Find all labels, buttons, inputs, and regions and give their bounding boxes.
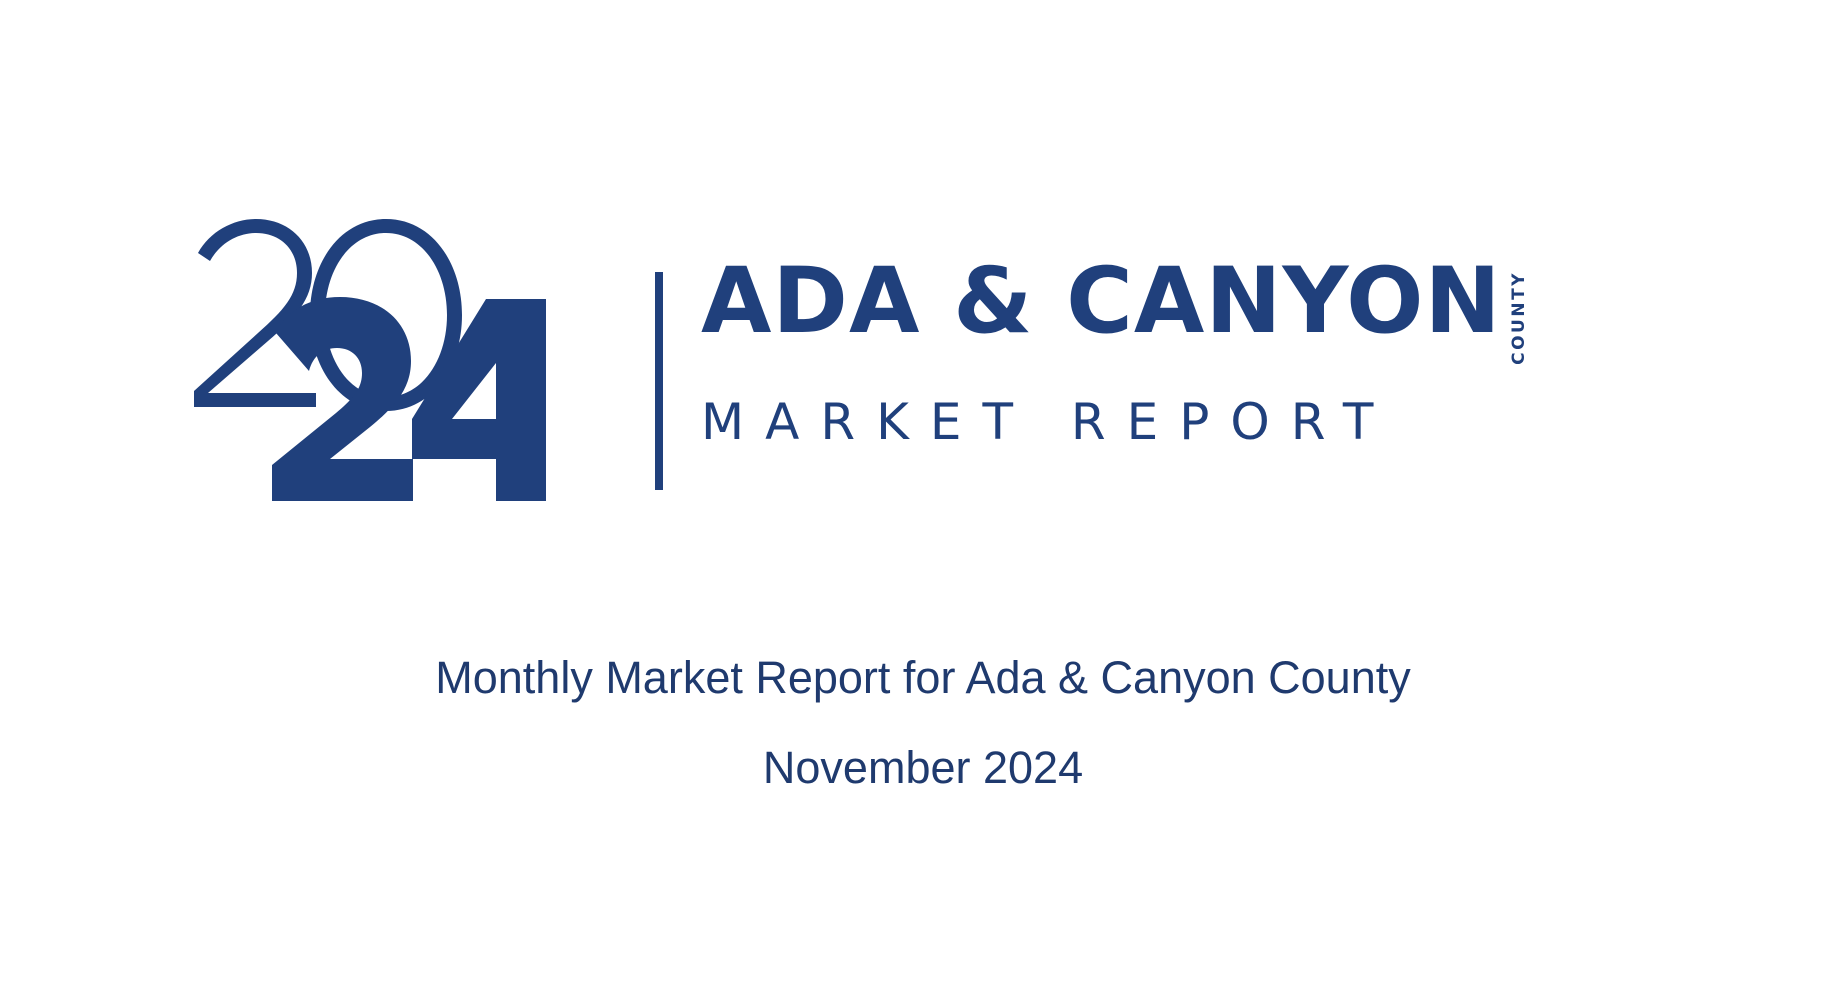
brand-logo-lockup: ADA & CANYON COUNTY MARKET REPORT: [190, 215, 1590, 505]
year-2024-icon: [190, 215, 550, 505]
wordmark-market-report: MARKET REPORT: [701, 393, 1528, 451]
subtitle-block: Monthly Market Report for Ada & Canyon C…: [0, 655, 1846, 790]
wordmark-county-vertical: COUNTY: [1511, 271, 1528, 365]
year-digit-4-solid: [412, 299, 546, 501]
subtitle-text: Monthly Market Report for Ada & Canyon C…: [0, 655, 1846, 700]
title-slide: ADA & CANYON COUNTY MARKET REPORT Monthl…: [0, 0, 1846, 994]
report-date: November 2024: [0, 745, 1846, 790]
logo-vertical-divider: [655, 272, 663, 490]
logo-wordmark: ADA & CANYON COUNTY MARKET REPORT: [701, 257, 1528, 505]
logo-year-2024: [190, 215, 550, 505]
wordmark-primary-row: ADA & CANYON COUNTY: [701, 257, 1528, 365]
wordmark-ada-canyon: ADA & CANYON: [701, 257, 1502, 346]
